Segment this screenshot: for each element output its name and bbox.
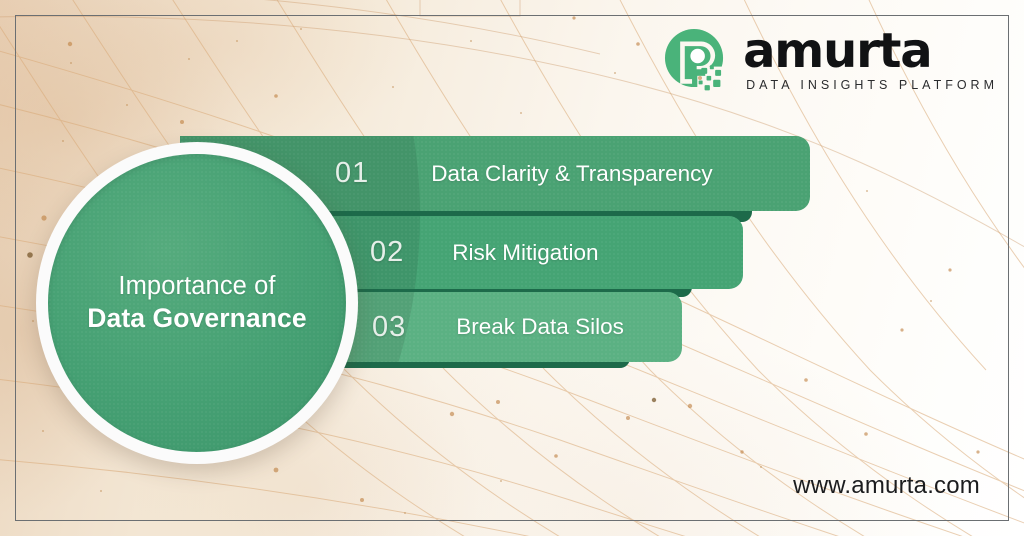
step-number-3: 03 xyxy=(372,311,406,344)
step-label-3: Break Data Silos xyxy=(456,314,624,340)
step-label-2: Risk Mitigation xyxy=(452,240,598,266)
step-number-2: 02 xyxy=(370,236,404,269)
brand-logo[interactable]: amurta DATA INSIGHTS PLATFORM xyxy=(663,27,998,93)
step-number-1: 01 xyxy=(335,157,369,190)
step-label-1: Data Clarity & Transparency xyxy=(431,161,712,187)
logo-tagline: DATA INSIGHTS PLATFORM xyxy=(743,78,998,92)
amurta-pixel-circle-logo-icon xyxy=(663,27,729,93)
logo-wordmark: amurta xyxy=(743,28,998,74)
main-topic-circle-inner: Importance of Data Governance xyxy=(48,154,346,452)
infographic-canvas: 01 Data Clarity & Transparency 02 Risk M… xyxy=(0,0,1024,536)
main-topic-circle: Importance of Data Governance xyxy=(36,142,358,464)
logo-text-block: amurta DATA INSIGHTS PLATFORM xyxy=(743,28,998,92)
main-topic-line-1: Importance of xyxy=(118,270,275,302)
website-url[interactable]: www.amurta.com xyxy=(793,472,980,500)
main-topic-line-2: Data Governance xyxy=(87,302,306,335)
